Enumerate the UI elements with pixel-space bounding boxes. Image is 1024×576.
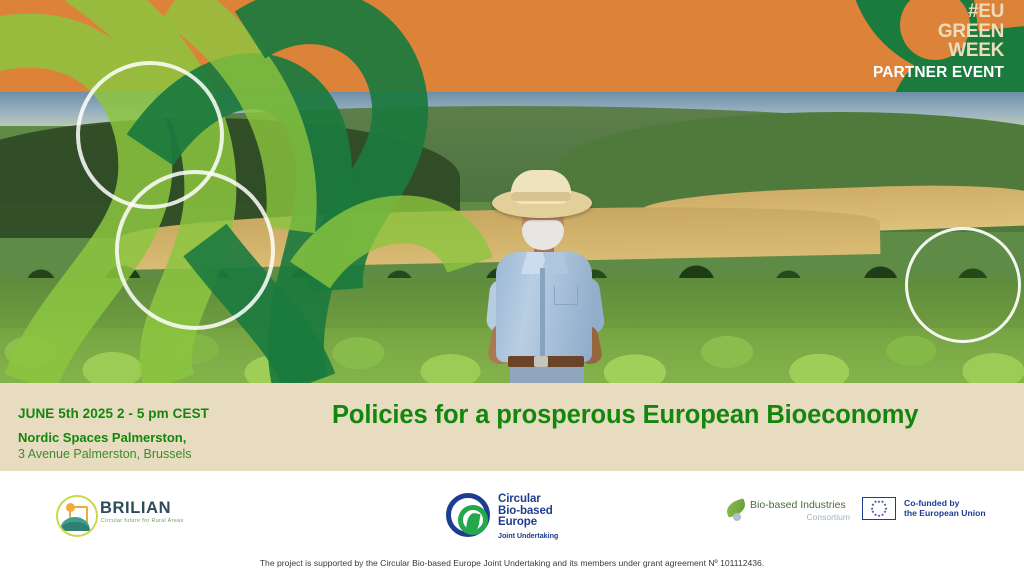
eu-funding-line-1: Co-funded by bbox=[904, 498, 986, 508]
eu-funding-text: Co-funded by the European Union bbox=[904, 498, 986, 519]
eu-star-icon: ★ bbox=[881, 513, 885, 517]
cbe-wordmark: Circular Bio-based Europe bbox=[498, 494, 553, 529]
hashtag-line-1: #EU bbox=[856, 2, 1024, 22]
event-info-band: JUNE 5th 2025 2 - 5 pm CEST Nordic Space… bbox=[0, 383, 1024, 471]
brilian-wordmark: BRILIAN bbox=[100, 499, 171, 518]
hero-photo: ★★★★★★★★★★★★ bbox=[0, 92, 1024, 383]
eu-star-icon: ★ bbox=[871, 510, 875, 514]
event-address: 3 Avenue Palmerston, Brussels bbox=[18, 447, 191, 461]
bic-dot-icon bbox=[733, 513, 741, 521]
farmer-trousers bbox=[510, 366, 584, 383]
eu-funding-logo: ★★★★★★★★★★★★ Co-funded by the European U… bbox=[862, 495, 992, 533]
hashtag-line-3: WEEK bbox=[856, 41, 1024, 61]
partner-event-label: PARTNER EVENT bbox=[873, 64, 1004, 82]
cbe-circle-icon bbox=[446, 493, 490, 537]
cbe-ju-logo: Circular Bio-based Europe Joint Undertak… bbox=[446, 487, 581, 543]
eu-funding-line-2: the European Union bbox=[904, 508, 986, 518]
hashtag-line-2: GREEN bbox=[856, 22, 1024, 42]
eu-star-icon: ★ bbox=[877, 514, 881, 518]
farmer-belt-buckle bbox=[534, 356, 548, 367]
bic-line-2: Consortium bbox=[750, 512, 850, 522]
farmer-hat-band bbox=[511, 192, 571, 201]
campaign-header-bar: #EU GREEN WEEK PARTNER EVENT bbox=[0, 0, 1024, 92]
farmer-shirt-placket bbox=[540, 268, 545, 362]
eu-flag-icon: ★★★★★★★★★★★★ bbox=[862, 497, 896, 520]
event-banner: #EU GREEN WEEK PARTNER EVENT bbox=[0, 0, 1024, 576]
brilian-emblem-icon bbox=[56, 495, 98, 537]
partner-footer: BRILIAN Circular future for Rural Areas … bbox=[0, 471, 1024, 576]
cbe-line-1: Circular bbox=[498, 494, 553, 506]
brilian-logo: BRILIAN Circular future for Rural Areas bbox=[56, 491, 186, 537]
partner-logo-row: BRILIAN Circular future for Rural Areas … bbox=[0, 487, 1024, 543]
farmer-shirt-pocket bbox=[554, 286, 578, 305]
bic-line-1: Bio-based Industries bbox=[750, 499, 846, 511]
event-venue: Nordic Spaces Palmerston, bbox=[18, 430, 186, 445]
cbe-subtitle: Joint Undertaking bbox=[498, 531, 558, 540]
farmer-figure bbox=[470, 164, 640, 383]
eu-green-week-lockup: #EU GREEN WEEK PARTNER EVENT bbox=[856, 2, 1024, 92]
farmer-beard bbox=[522, 220, 564, 250]
bic-logo: Bio-based Industries Consortium bbox=[726, 497, 851, 531]
event-date: JUNE 5th 2025 2 - 5 pm CEST bbox=[18, 406, 209, 421]
event-title: Policies for a prosperous European Bioec… bbox=[332, 401, 1002, 430]
cbe-line-3: Europe bbox=[498, 517, 553, 529]
eu-star-icon: ★ bbox=[874, 500, 878, 504]
eu-star-icon: ★ bbox=[870, 507, 874, 511]
decorative-ring-right bbox=[905, 227, 1021, 343]
brilian-tagline: Circular future for Rural Areas bbox=[101, 518, 184, 524]
grant-disclaimer: The project is supported by the Circular… bbox=[0, 558, 1024, 568]
